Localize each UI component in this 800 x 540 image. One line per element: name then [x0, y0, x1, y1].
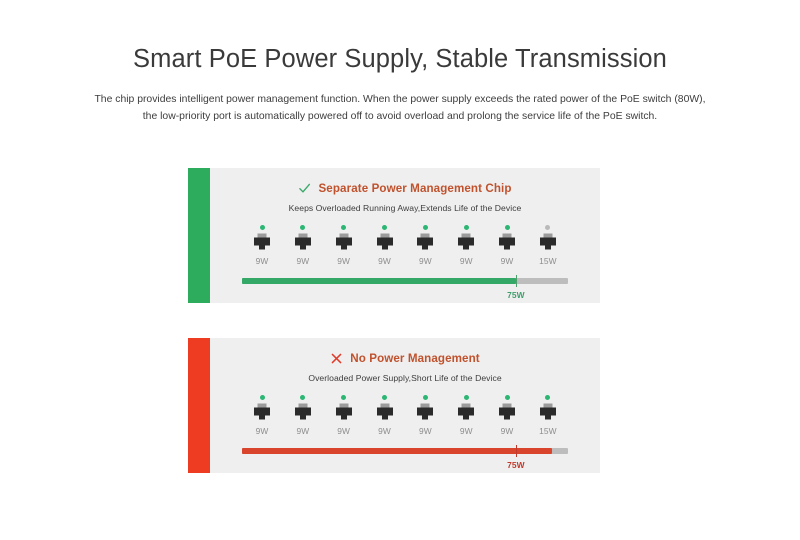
rj45-port-icon: [292, 232, 314, 254]
port-power-label: 9W: [245, 256, 279, 266]
panel-body: Separate Power Management ChipKeeps Over…: [210, 168, 600, 303]
panel-heading: Separate Power Management Chip: [210, 181, 600, 196]
page-header: Smart PoE Power Supply, Stable Transmiss…: [0, 0, 800, 126]
port-power-label: 9W: [368, 256, 402, 266]
port-power-label: 15W: [531, 426, 565, 436]
port: 9W: [449, 225, 483, 266]
panel-subtitle: Overloaded Power Supply,Short Life of th…: [210, 373, 600, 383]
rj45-port-icon: [414, 232, 436, 254]
port-led-on-icon: [260, 395, 265, 400]
port: 15W: [531, 225, 565, 266]
power-bar-threshold-tick: [516, 275, 517, 287]
rj45-port-icon: [537, 232, 559, 254]
panel-subtitle: Keeps Overloaded Running Away,Extends Li…: [210, 203, 600, 213]
rj45-port-icon: [414, 402, 436, 424]
port-power-label: 9W: [286, 256, 320, 266]
port: 9W: [327, 395, 361, 436]
port-power-label: 9W: [490, 256, 524, 266]
port: 9W: [368, 225, 402, 266]
panel-accent-bar: [188, 168, 210, 303]
rj45-port-icon: [455, 232, 477, 254]
rj45-port-icon: [292, 402, 314, 424]
port-led-on-icon: [505, 395, 510, 400]
port: 9W: [490, 395, 524, 436]
port: 9W: [245, 225, 279, 266]
port: 9W: [368, 395, 402, 436]
port: 9W: [449, 395, 483, 436]
port-power-label: 9W: [327, 256, 361, 266]
port: 9W: [408, 225, 442, 266]
page-description: The chip provides intelligent power mana…: [93, 91, 707, 127]
panel-heading: No Power Management: [210, 351, 600, 366]
port-power-label: 9W: [245, 426, 279, 436]
port-led-on-icon: [260, 225, 265, 230]
port-led-on-icon: [464, 395, 469, 400]
port-led-on-icon: [382, 225, 387, 230]
port: 9W: [286, 225, 320, 266]
ports-row: 9W9W9W9W9W9W9W15W: [245, 395, 565, 436]
panel-accent-bar: [188, 338, 210, 473]
comparison-panel: No Power ManagementOverloaded Power Supp…: [188, 338, 600, 473]
port: 15W: [531, 395, 565, 436]
rj45-port-icon: [374, 402, 396, 424]
port: 9W: [245, 395, 279, 436]
comparison-panel: Separate Power Management ChipKeeps Over…: [188, 168, 600, 303]
port-led-on-icon: [545, 395, 550, 400]
port-power-label: 9W: [327, 426, 361, 436]
ports-row: 9W9W9W9W9W9W9W15W: [245, 225, 565, 266]
port-led-on-icon: [341, 395, 346, 400]
panel-body: No Power ManagementOverloaded Power Supp…: [210, 338, 600, 473]
rj45-port-icon: [251, 402, 273, 424]
page-description-line-2: the low-priority port is automatically p…: [93, 108, 707, 126]
rj45-port-icon: [333, 402, 355, 424]
power-bar-threshold-label: 75W: [507, 460, 525, 470]
port-led-off-icon: [545, 225, 550, 230]
port-power-label: 9W: [449, 256, 483, 266]
cross-icon: [330, 352, 343, 365]
port: 9W: [490, 225, 524, 266]
rj45-port-icon: [333, 232, 355, 254]
page-description-line-1: The chip provides intelligent power mana…: [93, 91, 707, 109]
rj45-port-icon: [496, 402, 518, 424]
power-bar-threshold-label: 75W: [507, 290, 525, 300]
infographic-page: Smart PoE Power Supply, Stable Transmiss…: [0, 0, 800, 540]
rj45-port-icon: [496, 232, 518, 254]
port-led-on-icon: [341, 225, 346, 230]
port-power-label: 9W: [408, 256, 442, 266]
port-led-on-icon: [423, 395, 428, 400]
port: 9W: [408, 395, 442, 436]
power-bar-threshold-tick: [516, 445, 517, 457]
port-led-on-icon: [464, 225, 469, 230]
rj45-port-icon: [374, 232, 396, 254]
port-led-on-icon: [382, 395, 387, 400]
rj45-port-icon: [455, 402, 477, 424]
port-power-label: 9W: [286, 426, 320, 436]
power-bar-fill: [242, 448, 552, 454]
comparison-panels: Separate Power Management ChipKeeps Over…: [188, 168, 600, 473]
panel-title: No Power Management: [350, 352, 479, 365]
port-power-label: 15W: [531, 256, 565, 266]
port-led-on-icon: [423, 225, 428, 230]
port-led-on-icon: [300, 395, 305, 400]
port-power-label: 9W: [449, 426, 483, 436]
check-icon: [298, 182, 311, 195]
page-title: Smart PoE Power Supply, Stable Transmiss…: [0, 44, 800, 75]
port-power-label: 9W: [490, 426, 524, 436]
port-power-label: 9W: [368, 426, 402, 436]
panel-title: Separate Power Management Chip: [318, 182, 511, 195]
port-led-on-icon: [300, 225, 305, 230]
power-bar: 75W: [242, 448, 568, 478]
power-bar-fill: [242, 278, 516, 284]
rj45-port-icon: [251, 232, 273, 254]
power-bar: 75W: [242, 278, 568, 308]
port-led-on-icon: [505, 225, 510, 230]
port-power-label: 9W: [408, 426, 442, 436]
rj45-port-icon: [537, 402, 559, 424]
port: 9W: [327, 225, 361, 266]
port: 9W: [286, 395, 320, 436]
